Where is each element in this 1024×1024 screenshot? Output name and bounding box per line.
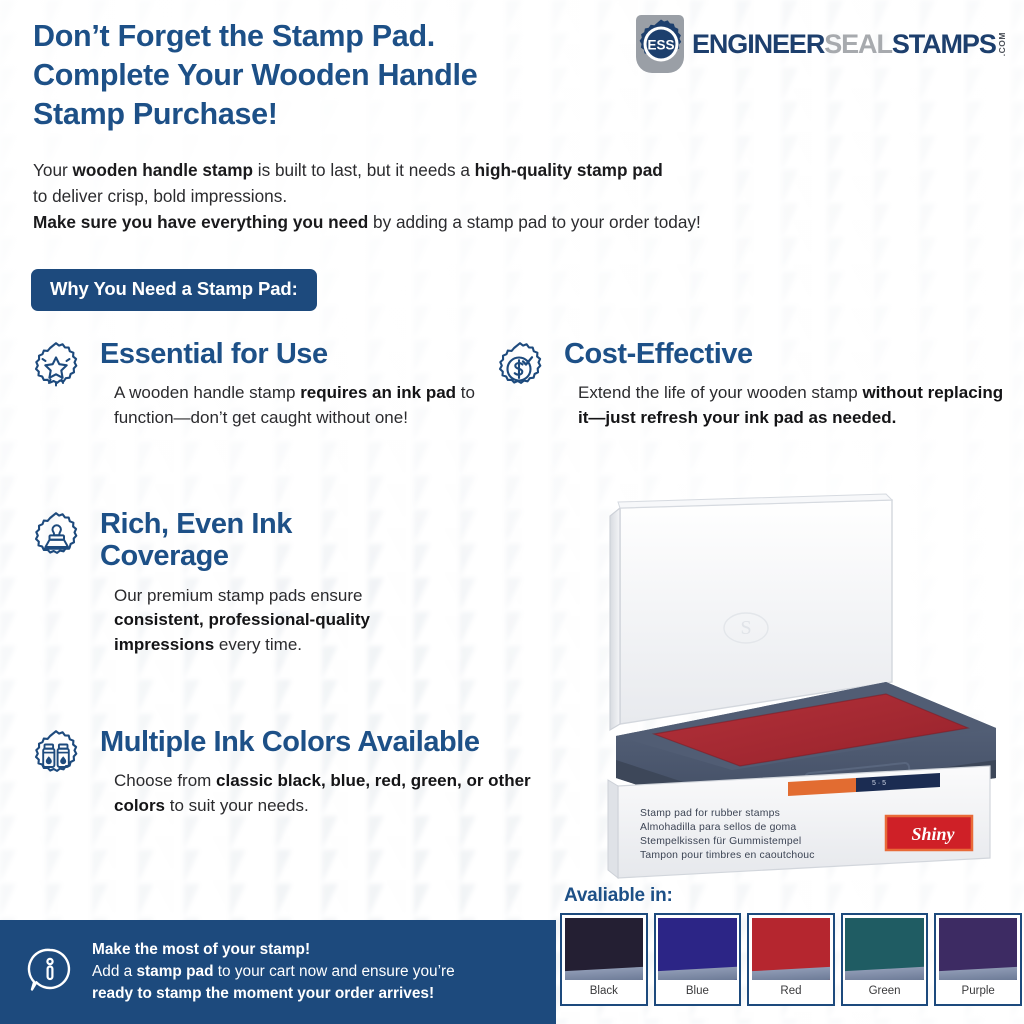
feature-rich-even-ink-coverage: Rich, Even Ink Coverage Our premium stam… <box>28 508 458 657</box>
swatch-green[interactable]: Green <box>841 913 929 1006</box>
intro-text-a: Your <box>33 160 73 180</box>
feat3-text-a: Choose from <box>114 771 216 790</box>
feat1-text-a: Extend the life of your wooden stamp <box>578 383 862 402</box>
footer-bold-a: stamp pad <box>137 963 214 980</box>
swatch-label-purple: Purple <box>939 980 1018 1002</box>
section-pill-why-you-need: Why You Need a Stamp Pad: <box>31 269 317 311</box>
swatch-red[interactable]: Red <box>747 913 835 1006</box>
info-bubble-icon <box>24 944 76 1001</box>
footer-line-3-bold: ready to stamp the moment your order arr… <box>92 985 434 1002</box>
intro-text-b: is built to last, but it needs a <box>253 160 475 180</box>
feature-essential-for-use: Essential for Use A wooden handle stamp … <box>28 338 490 430</box>
intro-line-3: Make sure you have everything you need b… <box>33 210 913 236</box>
intro-bold-b: high-quality stamp pad <box>475 160 663 180</box>
intro-text-c: by adding a stamp pad to your order toda… <box>368 212 701 232</box>
page-headline: Don’t Forget the Stamp Pad. Complete You… <box>33 17 653 134</box>
feature-title-rich: Rich, Even Ink Coverage <box>100 508 400 573</box>
brand-logo[interactable]: ESS ENGINEER SEAL STAMPS .COM <box>632 15 1006 73</box>
feature-body-colors: Choose from classic black, blue, red, gr… <box>114 769 534 818</box>
swatch-label-black: Black <box>565 980 644 1002</box>
feature-multiple-ink-colors: Multiple Ink Colors Available Choose fro… <box>28 726 528 818</box>
footer-line-1: Make the most of your stamp! <box>92 939 455 961</box>
available-in-title: Avaliable in: <box>564 885 673 907</box>
swatch-label-blue: Blue <box>658 980 737 1002</box>
footer-text-b: to your cart now and ensure you’re <box>213 963 454 980</box>
svg-text:S: S <box>740 617 751 639</box>
footer-line-2: Add a stamp pad to your cart now and ens… <box>92 961 455 983</box>
badge-ink-bottles-icon <box>28 728 84 784</box>
feature-title-colors: Multiple Ink Colors Available <box>100 726 500 758</box>
feature-body-essential: A wooden handle stamp requires an ink pa… <box>114 381 490 430</box>
product-box-line-2: Almohadilla para sellos de goma <box>640 822 796 833</box>
feature-title-essential: Essential for Use <box>100 338 490 370</box>
feat0-bold: requires an ink pad <box>300 383 456 402</box>
intro-paragraph: Your wooden handle stamp is built to las… <box>33 158 913 235</box>
product-box-line-3: Stempelkissen für Gummistempel <box>640 836 801 847</box>
feature-body-rich: Our premium stamp pads ensure consistent… <box>114 584 454 657</box>
product-box-line-1: Stamp pad for rubber stamps <box>640 808 780 819</box>
shiny-brand-logo: Shiny <box>886 816 972 850</box>
feat2-text-a: Our premium stamp pads ensure <box>114 586 363 605</box>
ess-gear-icon: ESS <box>635 18 687 70</box>
intro-bold-c: Make sure you have everything you need <box>33 212 368 232</box>
feature-title-cost: Cost-Effective <box>564 338 1012 370</box>
swatch-chip-red <box>752 918 831 980</box>
intro-line-1: Your wooden handle stamp is built to las… <box>33 158 913 184</box>
swatch-purple[interactable]: Purple <box>934 913 1022 1006</box>
product-photo-stamp-pad: S 5 · 5 Stamp pad for rubber stamps Almo… <box>556 486 1024 886</box>
swatch-label-green: Green <box>845 980 924 1002</box>
feat2-text-b: every time. <box>214 635 302 654</box>
swatch-black[interactable]: Black <box>560 913 648 1006</box>
footer-callout-bar: Make the most of your stamp! Add a stamp… <box>0 920 556 1024</box>
badge-star-icon <box>28 340 84 396</box>
intro-bold-a: wooden handle stamp <box>73 160 254 180</box>
logo-word-stamps: STAMPS <box>892 31 996 58</box>
feature-body-cost: Extend the life of your wooden stamp wit… <box>578 381 1012 430</box>
footer-line-3: ready to stamp the moment your order arr… <box>92 983 455 1005</box>
footer-line-1-bold: Make the most of your stamp! <box>92 941 310 958</box>
feat0-text-a: A wooden handle stamp <box>114 383 300 402</box>
swatch-chip-blue <box>658 918 737 980</box>
intro-line-2: to deliver crisp, bold impressions. <box>33 184 913 210</box>
ink-color-swatch-row: Black Blue Red Green Purple <box>560 913 1022 1006</box>
logo-word-tld: .COM <box>998 32 1007 56</box>
swatch-chip-black <box>565 918 644 980</box>
swatch-chip-green <box>845 918 924 980</box>
footer-text-a: Add a <box>92 963 137 980</box>
headline-line-3: Stamp Purchase! <box>33 95 653 134</box>
feat3-text-b: to suit your needs. <box>165 796 309 815</box>
logo-word-engineer: ENGINEER <box>692 31 824 58</box>
swatch-label-red: Red <box>752 980 831 1002</box>
feature-cost-effective: Cost-Effective Extend the life of your w… <box>492 338 1012 430</box>
headline-line-2: Complete Your Wooden Handle <box>33 56 653 95</box>
logo-shield: ESS <box>632 15 690 73</box>
shiny-brand-text: Shiny <box>911 824 955 844</box>
footer-text: Make the most of your stamp! Add a stamp… <box>92 939 455 1005</box>
product-box-line-4: Tampon pour timbres en caoutchouc <box>640 850 815 861</box>
logo-mark-text: ESS <box>647 38 674 53</box>
logo-word-seal: SEAL <box>824 31 892 58</box>
swatch-blue[interactable]: Blue <box>654 913 742 1006</box>
headline-line-1: Don’t Forget the Stamp Pad. <box>33 17 653 56</box>
badge-dollar-check-icon <box>492 340 548 396</box>
logo-wordmark: ENGINEER SEAL STAMPS .COM <box>692 31 1006 58</box>
svg-text:5 · 5: 5 · 5 <box>872 780 886 787</box>
swatch-chip-purple <box>939 918 1018 980</box>
badge-stamp-icon <box>28 510 84 566</box>
